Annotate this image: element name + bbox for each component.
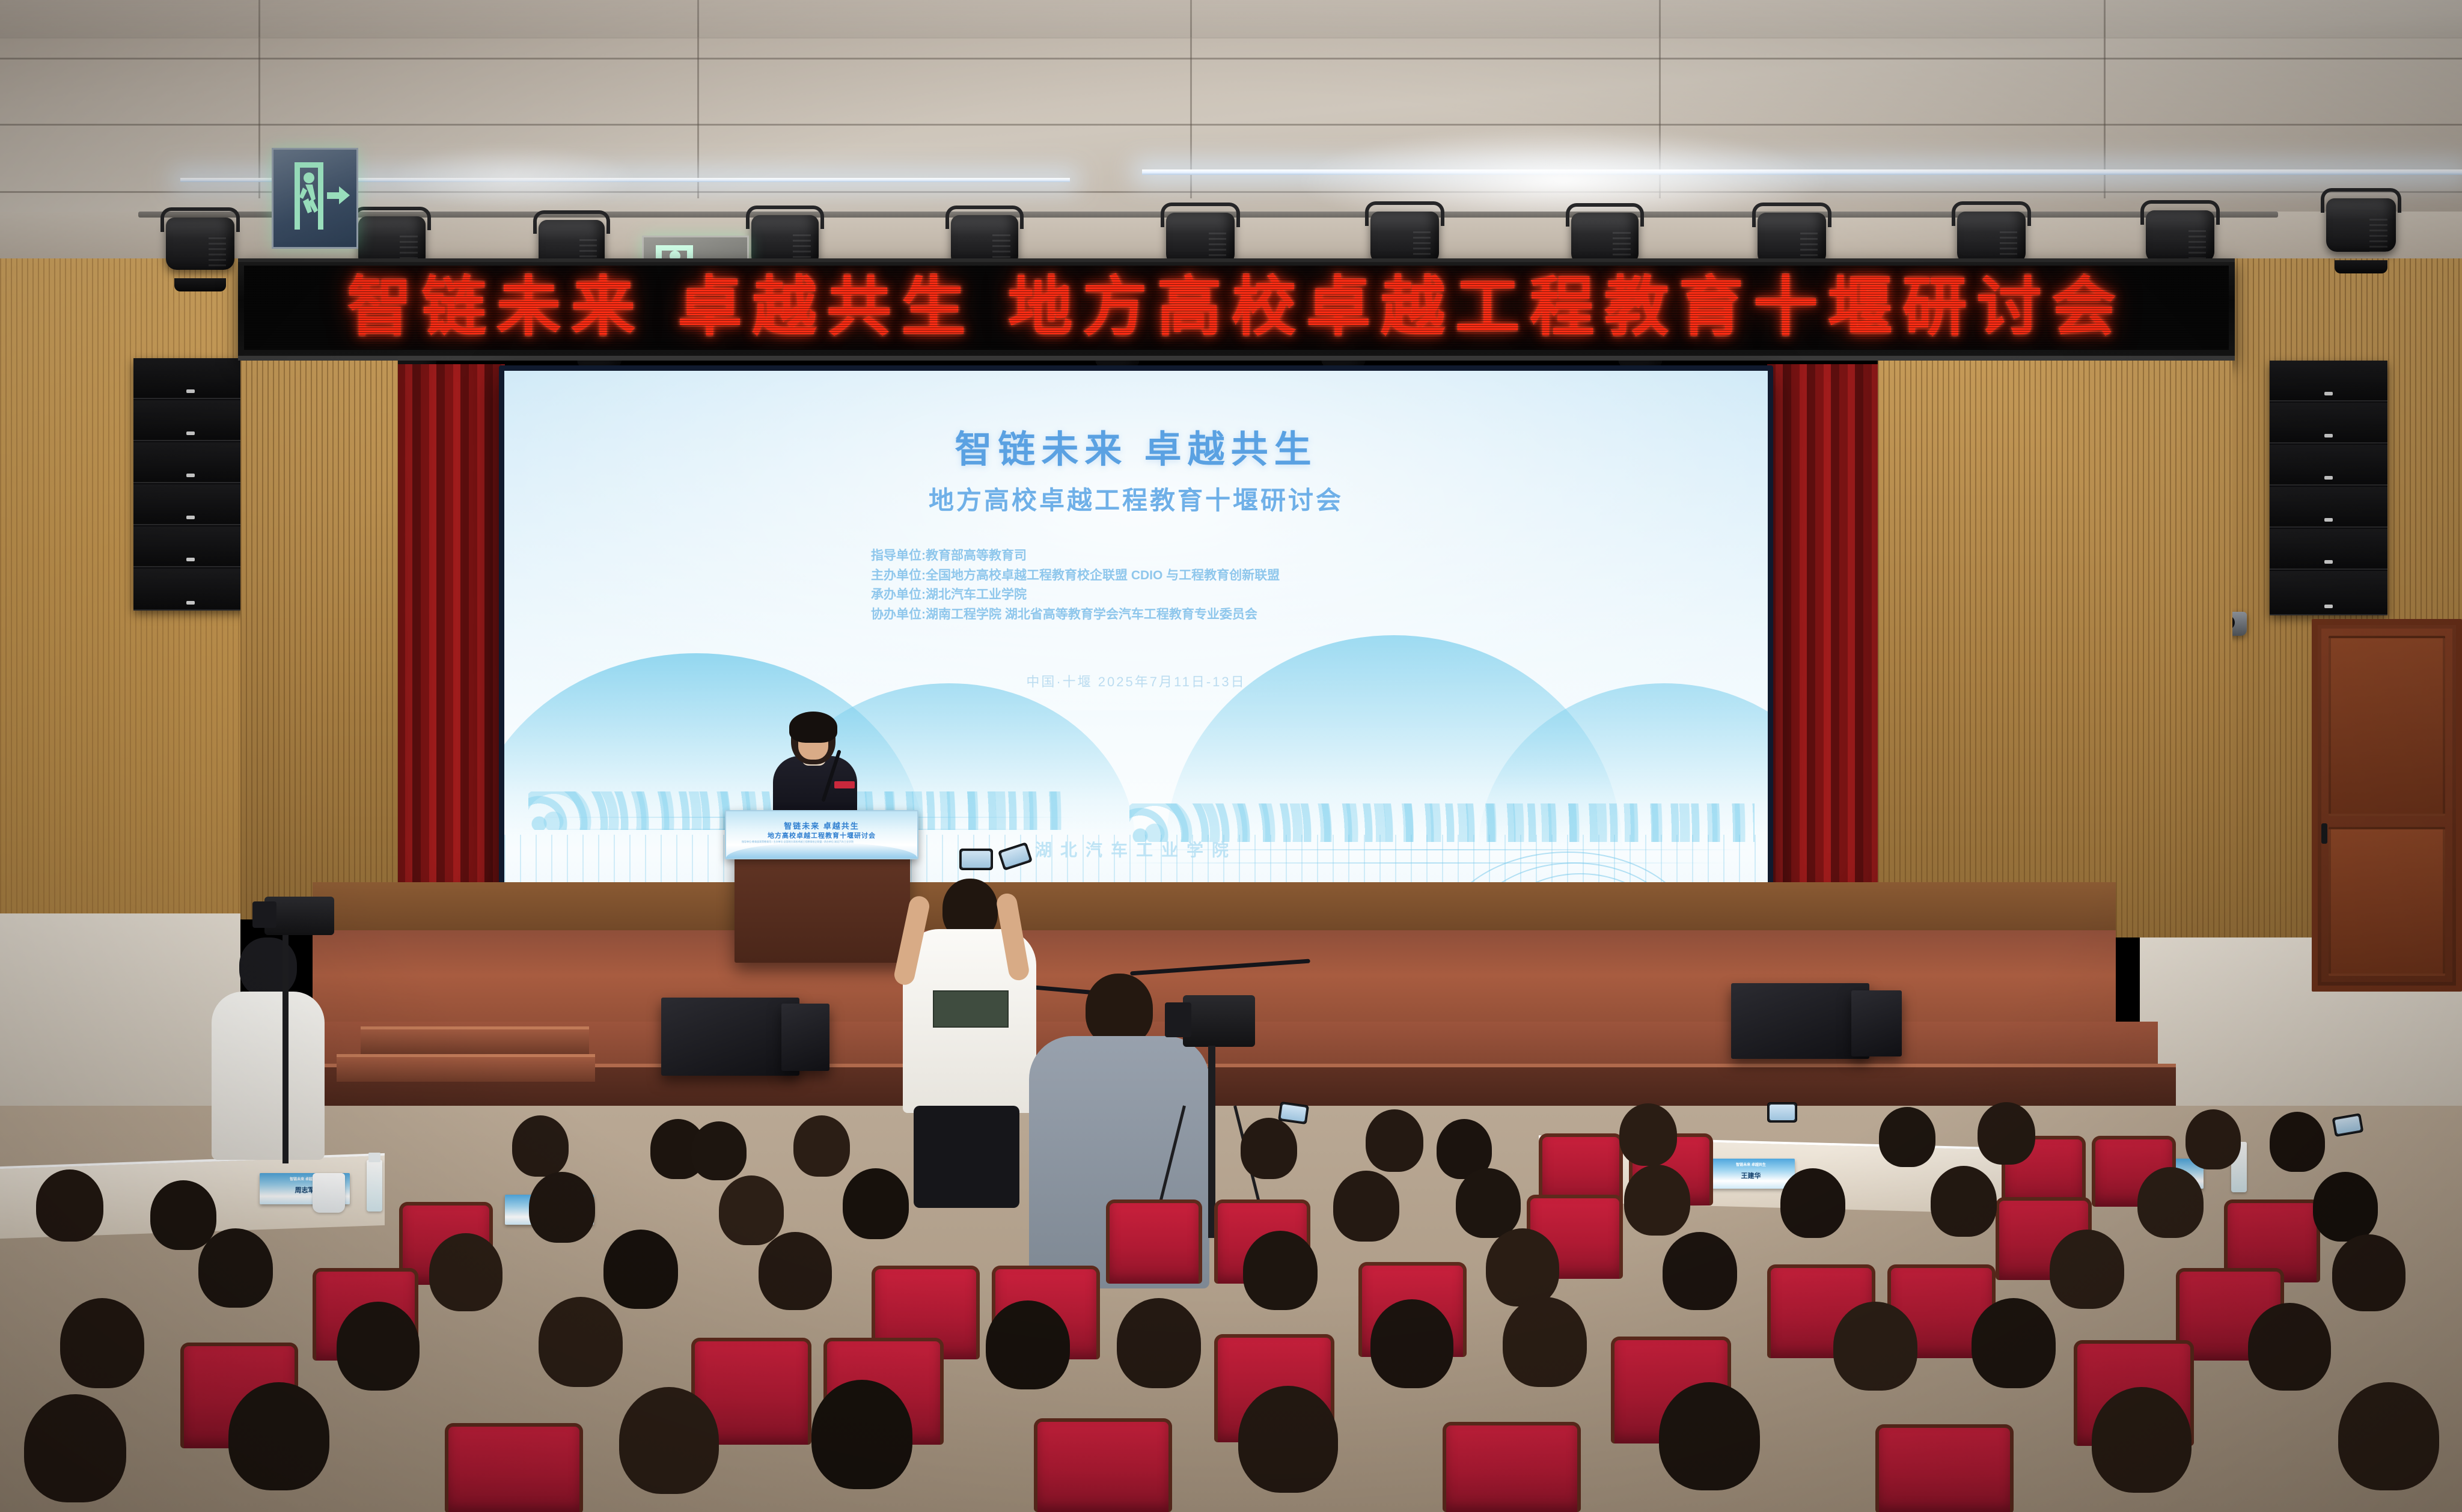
audience-head xyxy=(2332,1234,2405,1311)
audience-head xyxy=(529,1172,595,1243)
screen-date-line: 中国·十堰 2025年7月11日-13日 xyxy=(504,671,1768,690)
speaker-logo-icon xyxy=(2324,605,2333,608)
screen-organizer-list: 指导单位:教育部高等教育司 主办单位:全国地方高校卓越工程教育校企联盟 CDIO… xyxy=(871,546,1280,624)
audience-head xyxy=(1972,1298,2056,1388)
stage-step xyxy=(361,1026,589,1054)
ceiling-seam xyxy=(0,58,2462,59)
organizer-line: 承办单位:湖北汽车工业学院 xyxy=(871,585,1280,605)
door-handle[interactable] xyxy=(2321,823,2327,844)
speaker-logo-icon xyxy=(186,389,195,393)
speaker-logo-icon xyxy=(2324,560,2333,564)
ceiling-seam xyxy=(0,191,2462,193)
stage-curtain-left xyxy=(397,364,505,953)
audience-head xyxy=(1879,1107,1935,1167)
smartphone-recording[interactable] xyxy=(959,849,993,870)
audience-head xyxy=(2186,1109,2241,1169)
audience-head xyxy=(1117,1298,1201,1388)
exit-door-right[interactable] xyxy=(2312,619,2462,992)
audience-head xyxy=(1370,1299,1453,1388)
audience-head xyxy=(24,1394,126,1502)
audience-head xyxy=(2270,1112,2325,1172)
audience-head xyxy=(36,1169,103,1242)
speaker-logo-icon xyxy=(2324,434,2333,437)
stage-light xyxy=(2326,198,2396,270)
audience-head xyxy=(2248,1303,2331,1391)
line-array-speaker-right xyxy=(2270,361,2387,615)
podium-banner-line1: 智链未来 卓越共生 xyxy=(726,820,917,831)
audience-head xyxy=(2050,1230,2124,1309)
speaker-logo-icon xyxy=(186,558,195,561)
audience-head xyxy=(1333,1171,1399,1242)
stage-monitor-speaker xyxy=(1851,990,1902,1056)
organizer-line: 协办单位:湖南工程学院 湖北省高等教育学会汽车工程教育专业委员会 xyxy=(871,605,1280,625)
audience-head xyxy=(2313,1172,2378,1242)
audience-head xyxy=(198,1228,273,1308)
camera-lens-hood xyxy=(252,901,276,928)
audience-head xyxy=(1366,1109,1423,1172)
audience-head xyxy=(150,1180,216,1250)
tshirt-graphic xyxy=(933,990,1009,1028)
speaker-logo-icon xyxy=(2324,476,2333,480)
wall-lower-left xyxy=(0,913,240,1118)
presenter-hair xyxy=(789,712,837,743)
speaker-logo-icon xyxy=(186,431,195,435)
audience-head xyxy=(228,1382,329,1490)
audience-head xyxy=(1456,1168,1521,1238)
audience-head xyxy=(512,1115,569,1177)
presenter-name-badge xyxy=(834,781,855,788)
stage-monitor-speaker xyxy=(1731,983,1869,1059)
exit-sign-left xyxy=(272,148,358,249)
camera-lens-hood xyxy=(1165,1002,1191,1037)
audience-head xyxy=(843,1168,909,1239)
podium-banner: 智链未来 卓越共生 地方高校卓越工程教育十堰研讨会 指导单位:教育部高等教育司 … xyxy=(725,810,918,859)
audience-head xyxy=(811,1380,912,1489)
stage-monitor-speaker xyxy=(781,1004,829,1071)
speaker-logo-icon xyxy=(2324,392,2333,395)
stage-light xyxy=(166,218,234,288)
ceiling-seam xyxy=(0,124,2462,126)
audience-head xyxy=(1241,1118,1297,1179)
projection-screen-bezel: 智链未来 卓越共生 地方高校卓越工程教育十堰研讨会 指导单位:教育部高等教育司 … xyxy=(499,365,1773,942)
running-man-exit-icon xyxy=(279,156,351,240)
led-banner-text: 智链未来 卓越共生 地方高校卓越工程教育十堰研讨会 xyxy=(347,275,2125,340)
ceiling-light-glare xyxy=(385,144,637,210)
speaker-logo-icon xyxy=(2324,518,2333,522)
photographer-trousers xyxy=(914,1106,1019,1208)
audience-head xyxy=(719,1175,784,1245)
audience-head xyxy=(60,1298,144,1388)
audience-head xyxy=(1663,1232,1737,1310)
line-array-speaker-left xyxy=(133,358,248,611)
audience-head xyxy=(337,1302,420,1391)
speaker-logo-icon xyxy=(186,601,195,605)
podium-banner-line2: 地方高校卓越工程教育十堰研讨会 xyxy=(726,831,917,840)
audience-head xyxy=(539,1297,623,1387)
audience-head xyxy=(1238,1386,1338,1493)
speaker-logo-icon xyxy=(186,516,195,519)
audience-head xyxy=(2137,1167,2204,1238)
audience-head xyxy=(691,1121,747,1180)
stage-monitor-speaker xyxy=(661,998,799,1076)
water-bottle xyxy=(367,1160,382,1212)
screen-subheadline: 地方高校卓越工程教育十堰研讨会 xyxy=(504,480,1768,517)
auditorium-scene: 智链未来 卓越共生 地方高校卓越工程教育十堰研讨会 智链未来 卓越共生 xyxy=(0,0,2462,1512)
audience-head xyxy=(793,1115,850,1177)
led-banner: 智链未来 卓越共生 地方高校卓越工程教育十堰研讨会 xyxy=(238,258,2235,361)
audience-head xyxy=(1659,1382,1760,1490)
wall-wood-stage-left xyxy=(240,361,398,919)
audience-head xyxy=(1624,1165,1690,1236)
videographer-body xyxy=(212,992,325,1160)
audience-head xyxy=(603,1230,678,1309)
audience-head xyxy=(2092,1387,2192,1493)
audience-head xyxy=(1243,1231,1318,1310)
video-camera-center xyxy=(1183,995,1255,1047)
audience-head xyxy=(986,1300,1070,1389)
tea-cup xyxy=(313,1173,345,1213)
organizer-line: 主办单位:全国地方高校卓越工程教育校企联盟 CDIO 与工程教育创新联盟 xyxy=(871,566,1280,586)
wall-wood-stage-right xyxy=(1878,361,2232,937)
camera-tripod-left xyxy=(283,935,289,1163)
stage-step xyxy=(337,1054,595,1082)
audience-head xyxy=(429,1233,502,1311)
audience-head xyxy=(1833,1302,1917,1391)
audience-head xyxy=(759,1232,832,1310)
audience-head xyxy=(1780,1168,1845,1238)
camera-operator-head xyxy=(1086,974,1153,1046)
podium-banner-line3: 指导单位:教育部高等教育司 / 主办单位:全国地方高校卓越工程教育校企联盟 / … xyxy=(742,840,902,844)
table-name-card: 智链未来 卓越共生 王建华 xyxy=(1707,1159,1795,1189)
speaker-logo-icon xyxy=(186,474,195,477)
stage-curtain-right xyxy=(1767,364,1881,953)
organizer-line: 指导单位:教育部高等教育司 xyxy=(871,546,1280,566)
name-card-header: 智链未来 卓越共生 xyxy=(1707,1162,1795,1167)
audience-head xyxy=(619,1387,719,1494)
audience-head xyxy=(1619,1103,1677,1166)
bottle-cap xyxy=(368,1153,380,1162)
podium-banner-wave xyxy=(726,843,917,858)
screen-watermark: 湖北汽车工业学院 xyxy=(504,837,1768,861)
audience-head xyxy=(2338,1382,2439,1490)
audience-head xyxy=(1503,1297,1587,1387)
smartphone-audience[interactable] xyxy=(1767,1102,1797,1123)
screen-headline: 智链未来 卓越共生 xyxy=(504,419,1768,473)
audience-head xyxy=(1931,1166,1997,1237)
audience-head xyxy=(1486,1228,1559,1306)
audience-head xyxy=(1978,1102,2035,1165)
ceiling-panel xyxy=(0,0,2462,38)
name-card-name: 王建华 xyxy=(1707,1171,1795,1180)
projection-screen: 智链未来 卓越共生 地方高校卓越工程教育十堰研讨会 指导单位:教育部高等教育司 … xyxy=(504,371,1768,937)
